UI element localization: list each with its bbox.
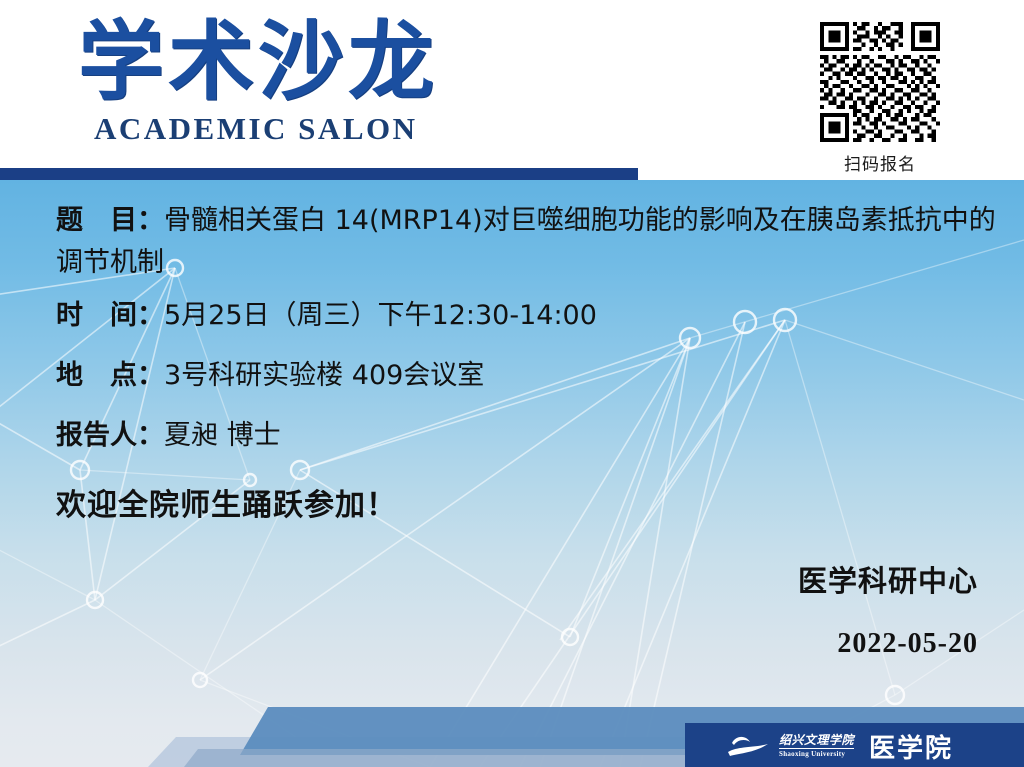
qr-caption: 扫码报名 bbox=[812, 150, 948, 175]
place-label: 地 点： bbox=[56, 360, 164, 391]
organizer-name: 医学科研中心 bbox=[798, 558, 978, 600]
topic-label: 题 目： bbox=[56, 205, 164, 236]
topic-value: 骨髓相关蛋白 14(MRP14)对巨噬细胞功能的影响及在胰岛素抵抗中的调节机制 bbox=[56, 205, 996, 278]
qr-code-icon[interactable] bbox=[820, 22, 940, 142]
brand-block: 学术沙龙 ACADEMIC SALON bbox=[78, 14, 538, 146]
speaker-label: 报告人： bbox=[56, 420, 164, 451]
shaoxing-university-bridge-icon bbox=[726, 732, 770, 760]
row-speaker: 报告人：夏昶 博士 bbox=[56, 413, 281, 452]
poster-root: 学术沙龙 ACADEMIC SALON bbox=[0, 0, 1024, 767]
brand-title-cn: 学术沙龙 bbox=[78, 14, 538, 110]
qr-registration-block[interactable]: 扫码报名 bbox=[812, 22, 948, 175]
poster-header: 学术沙龙 ACADEMIC SALON bbox=[0, 0, 1024, 180]
place-value: 3号科研实验楼 409会议室 bbox=[164, 360, 484, 391]
publish-date: 2022-05-20 bbox=[837, 628, 978, 660]
welcome-message: 欢迎全院师生踊跃参加！ bbox=[56, 480, 397, 524]
row-topic: 题 目：骨髓相关蛋白 14(MRP14)对巨噬细胞功能的影响及在胰岛素抵抗中的调… bbox=[56, 200, 996, 284]
time-label: 时 间： bbox=[56, 300, 164, 331]
college-name: 医学院 bbox=[869, 728, 953, 765]
university-name-en: Shaoxing University bbox=[779, 748, 854, 758]
time-value: 5月25日（周三）下午12:30-14:00 bbox=[164, 300, 597, 331]
university-wordmark: 绍兴文理学院 Shaoxing University bbox=[779, 734, 854, 758]
row-place: 地 点：3号科研实验楼 409会议室 bbox=[56, 353, 484, 392]
row-time: 时 间：5月25日（周三）下午12:30-14:00 bbox=[56, 293, 597, 332]
university-name-cn: 绍兴文理学院 bbox=[779, 734, 854, 746]
brand-title-en: ACADEMIC SALON bbox=[94, 112, 538, 146]
speaker-value: 夏昶 博士 bbox=[164, 420, 281, 451]
university-logo: 绍兴文理学院 Shaoxing University 医学院 bbox=[726, 729, 953, 763]
